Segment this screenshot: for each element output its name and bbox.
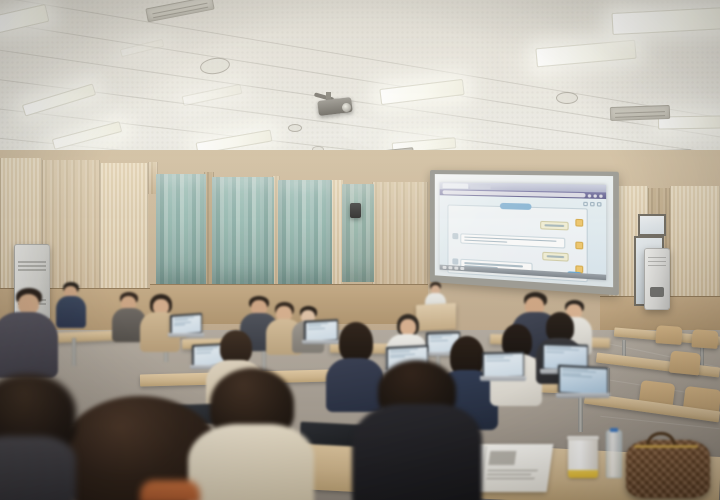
maximize-icon[interactable] <box>593 194 596 197</box>
curtain-center <box>212 177 274 285</box>
desk-leg <box>72 338 76 366</box>
empty-chair-2[interactable] <box>691 329 718 349</box>
monogram-handbag[interactable] <box>626 440 710 498</box>
bot-avatar-1 <box>575 219 583 227</box>
bag-zipper <box>634 445 698 448</box>
head <box>400 319 416 335</box>
attendee-fg-far-right <box>352 360 482 500</box>
screen-frame <box>430 170 619 295</box>
laptop-mid-3[interactable] <box>480 352 526 384</box>
projection-screen <box>430 170 619 295</box>
torso <box>352 404 482 500</box>
minimize-icon[interactable] <box>588 194 591 197</box>
browser-tab-2[interactable] <box>470 184 490 189</box>
curtain-right <box>278 180 332 284</box>
user-avatar-1 <box>452 233 458 239</box>
ceiling-projector <box>312 92 358 116</box>
laptop-back-1[interactable] <box>168 314 204 340</box>
attendee-fg-right <box>188 368 314 500</box>
hair <box>339 322 373 362</box>
window-controls[interactable] <box>588 194 603 198</box>
air-vent-2 <box>610 105 670 121</box>
wall-panel-10 <box>670 186 720 310</box>
wall-panel-7 <box>372 182 428 294</box>
chat-message-left-1 <box>452 233 582 250</box>
torso <box>0 312 58 378</box>
head <box>18 294 39 314</box>
attendee-fg-orange-sleeve <box>140 480 200 500</box>
water-bottle[interactable] <box>606 430 622 478</box>
purifier-control-panel[interactable] <box>650 287 663 297</box>
ceiling-speaker-2 <box>556 92 578 104</box>
taskbar-app-icon-2[interactable] <box>454 266 458 269</box>
message-bubble <box>460 233 565 249</box>
screen-surface <box>435 174 613 287</box>
curtain-far-right <box>342 184 374 282</box>
coffee-cup[interactable] <box>568 436 598 478</box>
cup-sleeve <box>568 470 598 478</box>
chat-close-icon[interactable] <box>597 202 602 206</box>
close-icon[interactable] <box>599 194 602 197</box>
chat-date-pill <box>499 203 531 210</box>
taskbar-app-icon-3[interactable] <box>460 267 464 270</box>
curtain-left <box>156 174 206 284</box>
empty-chair-1[interactable] <box>655 325 682 345</box>
bottle-cap <box>610 428 618 432</box>
attendee-fg-left-edge <box>0 374 76 500</box>
message-bubble <box>542 252 568 262</box>
torso <box>188 424 314 500</box>
wall-speaker <box>350 203 361 218</box>
taskbar-app-icon-1[interactable] <box>448 266 452 269</box>
ceiling-speaker-3 <box>288 124 302 132</box>
taskbar-start-icon[interactable] <box>443 266 447 269</box>
bot-avatar-2 <box>575 242 583 250</box>
chat-minimize-icon[interactable] <box>583 202 588 206</box>
browser-window[interactable] <box>440 182 606 280</box>
classroom-photo-scene <box>0 0 720 500</box>
air-purifier <box>644 248 670 310</box>
empty-chair-3[interactable] <box>669 350 701 375</box>
chat-expand-icon[interactable] <box>590 202 595 206</box>
doorway-transom <box>638 214 666 236</box>
hair <box>220 330 252 364</box>
torso <box>0 436 76 500</box>
cup-lid <box>567 436 599 440</box>
attendee-suit-left <box>0 288 66 378</box>
chat-message-right-1 <box>452 218 568 230</box>
browser-tab-1[interactable] <box>443 183 469 188</box>
message-bubble <box>540 221 569 230</box>
laptop-front[interactable] <box>556 366 610 402</box>
